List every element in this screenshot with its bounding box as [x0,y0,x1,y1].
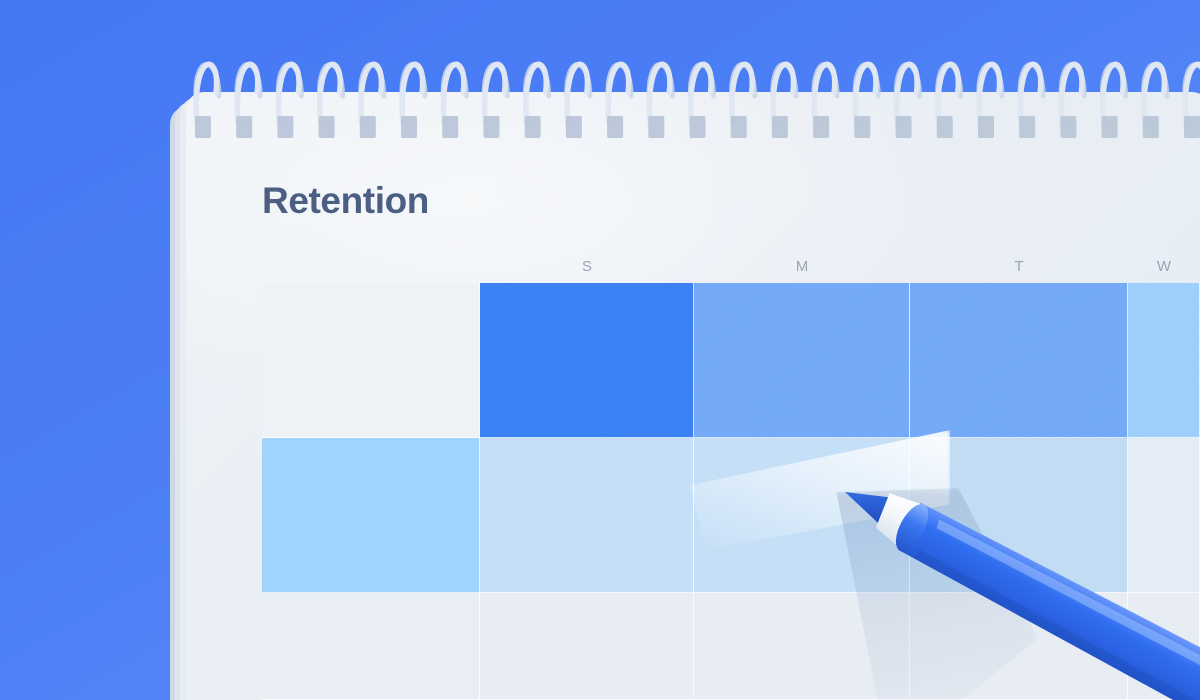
heatmap-cell-r1-c0[interactable] [262,438,480,593]
heatmap-cell-r0-c1[interactable] [480,283,694,438]
heatmap-cell-r0-c2[interactable] [694,283,910,438]
page-title: Retention [262,180,429,222]
heatmap-cell-r0-c0[interactable] [262,283,480,438]
heatmap-cell-r0-c3[interactable] [910,283,1128,438]
day-label-t-3: T [999,258,1039,275]
day-label-w-4: W [1144,258,1184,275]
heatmap-cell-r2-c0[interactable] [262,593,480,700]
heatmap-cell-r1-c1[interactable] [480,438,694,593]
notebook-sheet: Retention SMTW [186,92,1200,700]
heatmap-cell-r2-c4[interactable] [1128,593,1200,700]
day-label-s-1: S [567,258,607,275]
heatmap-cell-r2-c1[interactable] [480,593,694,700]
heatmap-cell-r0-c4[interactable] [1128,283,1200,438]
calendar-day-header-row: SMTW [186,258,1200,284]
screenshot-canvas: Retention SMTW [0,0,1200,700]
day-label-m-2: M [782,258,822,275]
heatmap-cell-r1-c4[interactable] [1128,438,1200,593]
